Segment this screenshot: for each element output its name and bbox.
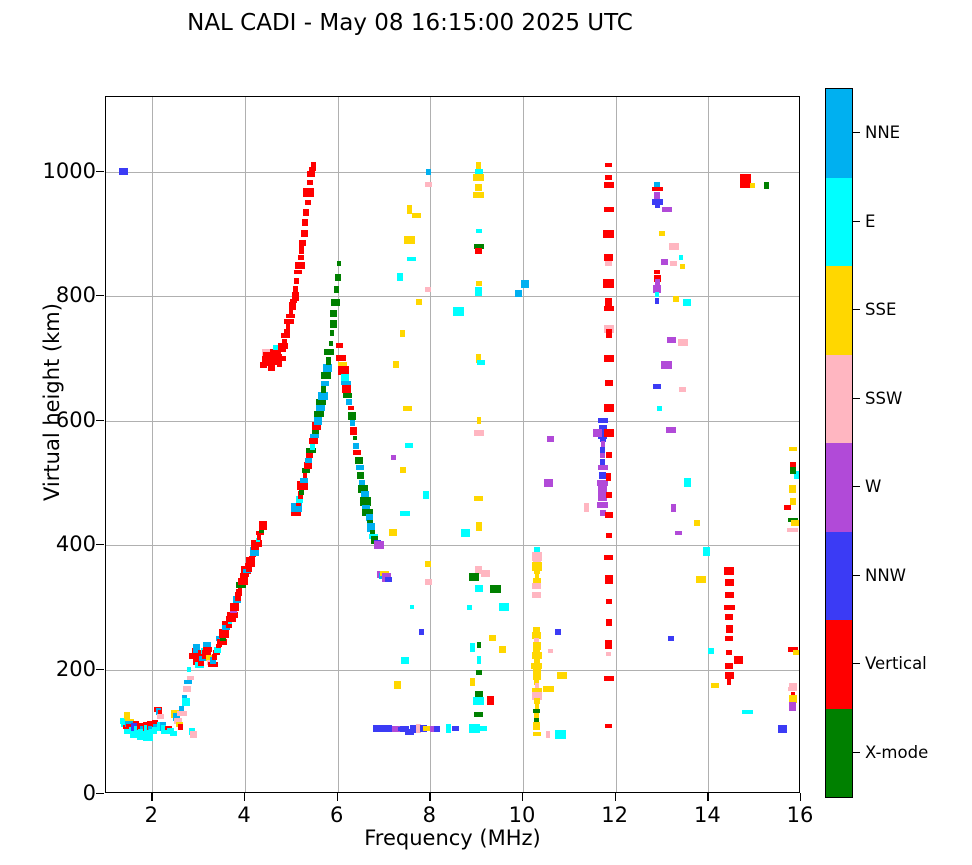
data-point [678, 339, 688, 346]
data-point [655, 298, 659, 304]
data-point [605, 163, 612, 167]
data-point [597, 502, 608, 508]
data-point [473, 174, 484, 181]
data-point [425, 579, 432, 585]
data-point [284, 329, 290, 333]
data-point [673, 296, 679, 302]
data-point [301, 230, 308, 237]
data-point [157, 714, 164, 719]
data-point [467, 605, 472, 610]
colorbar-band-sse [826, 266, 852, 355]
data-point [190, 731, 197, 738]
data-point [604, 182, 614, 188]
x-tick-mark [244, 793, 245, 801]
data-point [353, 450, 361, 455]
data-point [473, 697, 484, 705]
data-point [356, 465, 364, 470]
data-point [475, 248, 482, 254]
data-point [604, 254, 613, 261]
data-point [324, 349, 334, 355]
data-point [606, 452, 612, 458]
data-point [499, 646, 506, 653]
data-point [499, 603, 509, 611]
colorbar-tick-mark [853, 486, 860, 487]
data-point [603, 230, 614, 238]
data-point [286, 323, 290, 330]
data-point [476, 229, 482, 233]
data-point [281, 333, 290, 338]
data-point [487, 696, 494, 705]
data-point [177, 711, 187, 716]
y-tick-mark [96, 793, 104, 794]
colorbar-label-e: E [865, 212, 875, 231]
data-point [533, 709, 540, 713]
data-point [606, 473, 611, 481]
colorbar-tick-mark [853, 575, 860, 576]
data-point [336, 343, 343, 348]
data-point [680, 264, 685, 269]
colorbar-band-vertical [826, 620, 852, 709]
data-point [292, 292, 299, 301]
data-point [605, 724, 612, 728]
data-point [480, 726, 487, 731]
data-point [606, 652, 611, 656]
data-point [666, 427, 676, 433]
data-point [286, 314, 295, 318]
data-point [353, 436, 357, 440]
data-point [425, 287, 431, 292]
chart-title: NAL CADI - May 08 16:15:00 2025 UTC [0, 10, 820, 36]
data-point [521, 280, 529, 288]
data-point [170, 731, 177, 736]
data-point [606, 599, 612, 604]
data-point [604, 676, 614, 681]
plot-area [105, 96, 800, 793]
data-point [476, 522, 482, 531]
data-point [330, 320, 337, 328]
data-point [183, 686, 191, 692]
data-point [708, 648, 714, 654]
data-point [476, 670, 482, 675]
data-point [489, 635, 496, 641]
data-point [657, 406, 662, 411]
data-point [397, 273, 403, 281]
x-tick-label: 8 [399, 803, 459, 827]
data-point [284, 319, 294, 324]
ionogram-figure: NAL CADI - May 08 16:15:00 2025 UTC Virt… [0, 0, 972, 865]
data-point [304, 462, 312, 469]
data-point [475, 184, 482, 191]
data-point [303, 188, 314, 197]
data-point [604, 306, 614, 311]
data-point [600, 459, 605, 465]
data-point [307, 171, 315, 177]
colorbar-band-e [826, 178, 852, 267]
y-axis-ticks: 02004006008001000 [0, 96, 96, 793]
data-point [679, 387, 686, 392]
data-point [335, 274, 341, 281]
data-point [475, 287, 482, 296]
data-point [655, 203, 660, 208]
data-point [469, 573, 479, 581]
data-point [306, 453, 313, 458]
y-tick-label: 1000 [10, 159, 96, 183]
data-point [533, 722, 540, 730]
data-point [405, 443, 413, 448]
data-point [490, 585, 501, 593]
data-point [391, 455, 396, 460]
x-tick-mark [707, 793, 708, 801]
data-point [329, 341, 333, 346]
data-point [452, 726, 459, 731]
data-point [477, 656, 481, 664]
data-point [598, 465, 608, 470]
data-point [407, 257, 416, 261]
colorbar-tick-mark [853, 398, 860, 399]
x-tick-label: 12 [585, 803, 645, 827]
data-point [675, 531, 682, 535]
data-point [662, 207, 672, 212]
colorbar-label-nnw: NNW [865, 566, 906, 585]
data-point [605, 575, 613, 584]
y-tick-mark [96, 295, 104, 296]
data-point [305, 458, 312, 463]
data-point [303, 209, 309, 216]
data-point [321, 372, 331, 379]
data-point [652, 187, 663, 191]
y-tick-mark [96, 544, 104, 545]
x-tick-label: 2 [121, 803, 181, 827]
data-point [434, 726, 440, 732]
data-point [353, 443, 359, 449]
data-point [404, 236, 415, 244]
data-point [654, 270, 660, 274]
x-tick-label: 10 [492, 803, 552, 827]
data-point [277, 362, 282, 367]
data-point [314, 411, 324, 417]
data-point [725, 614, 733, 620]
data-point [400, 330, 405, 337]
colorbar-tick-mark [853, 132, 860, 133]
data-point [679, 255, 683, 260]
data-point [789, 447, 797, 451]
data-point [661, 259, 668, 265]
data-point [555, 629, 561, 635]
data-point [302, 219, 308, 226]
colorbar-band-nne [826, 89, 852, 178]
data-point [606, 329, 612, 338]
data-point [307, 180, 313, 185]
data-point [350, 427, 357, 435]
data-point [474, 496, 483, 501]
data-point [326, 357, 331, 365]
x-tick-mark [337, 793, 338, 801]
data-point [684, 478, 691, 487]
data-point [394, 681, 401, 689]
data-point [724, 605, 735, 610]
data-point [469, 724, 480, 733]
data-point [790, 498, 796, 505]
data-point [703, 547, 710, 556]
y-tick-mark [96, 669, 104, 670]
x-tick-mark [615, 793, 616, 801]
data-point [475, 585, 483, 592]
data-point [426, 169, 431, 175]
data-point [311, 162, 316, 168]
colorbar-band-nnw [826, 532, 852, 621]
x-tick-mark [151, 793, 152, 801]
data-point [791, 520, 800, 526]
data-point [790, 467, 796, 474]
data-points-layer [106, 97, 799, 792]
data-point [336, 355, 346, 361]
data-point [477, 360, 485, 365]
data-point [727, 678, 731, 685]
colorbar-labels: NNEESSESSWWNNWVerticalX-mode [853, 88, 963, 798]
data-point [778, 725, 787, 733]
data-point [294, 270, 302, 274]
data-point [789, 485, 796, 493]
data-point [532, 592, 541, 598]
data-point [711, 683, 719, 688]
data-point [331, 299, 340, 306]
data-point [726, 625, 733, 633]
data-point [476, 281, 482, 286]
data-point [593, 429, 602, 437]
data-point [419, 629, 424, 635]
x-axis-label: Frequency (MHz) [105, 826, 800, 850]
data-point [277, 356, 286, 361]
data-point [393, 361, 399, 368]
data-point [788, 687, 797, 691]
y-tick-label: 0 [10, 781, 96, 805]
data-point [374, 541, 384, 549]
data-point [793, 650, 800, 655]
data-point [598, 418, 608, 423]
data-point [289, 302, 296, 310]
data-point [305, 200, 311, 205]
data-point [605, 512, 613, 518]
data-point [477, 417, 481, 424]
data-point [555, 730, 566, 739]
data-point [668, 636, 674, 641]
data-point [734, 656, 743, 664]
y-tick-label: 200 [10, 657, 96, 681]
data-point [725, 592, 734, 598]
data-point [321, 386, 326, 393]
data-point [473, 192, 484, 198]
data-point [548, 649, 553, 653]
data-point [683, 299, 691, 306]
data-point [605, 640, 612, 649]
colorbar-label-vertical: Vertical [865, 654, 927, 673]
colorbar-tick-mark [853, 221, 860, 222]
data-point [294, 278, 299, 284]
data-point [282, 339, 287, 343]
data-point [178, 724, 183, 730]
data-point [334, 286, 339, 293]
data-point [355, 457, 363, 464]
data-point [784, 505, 791, 510]
y-tick-mark [96, 171, 104, 172]
data-point [605, 380, 613, 386]
data-point [605, 261, 612, 266]
data-point [309, 438, 318, 444]
colorbar-tick-mark [853, 752, 860, 753]
data-point [403, 406, 412, 411]
data-point [310, 434, 319, 438]
colorbar-label-w: W [865, 477, 881, 496]
data-point [599, 472, 606, 479]
colorbar-tick-mark [853, 309, 860, 310]
data-point [343, 393, 352, 398]
x-tick-mark [429, 793, 430, 801]
x-tick-label: 14 [677, 803, 737, 827]
data-point [425, 182, 432, 187]
y-tick-mark [96, 420, 104, 421]
data-point [669, 243, 679, 250]
data-point [789, 702, 796, 711]
data-point [696, 576, 706, 583]
data-point [423, 491, 429, 499]
data-point [481, 570, 490, 577]
x-tick-mark [800, 793, 801, 801]
data-point [661, 361, 672, 369]
y-tick-label: 600 [10, 408, 96, 432]
data-point [584, 503, 589, 512]
data-point [600, 453, 605, 458]
data-point [293, 286, 298, 292]
data-point [655, 292, 659, 297]
data-point [400, 467, 406, 473]
data-point [385, 577, 392, 582]
data-point [726, 650, 732, 655]
data-point [544, 479, 553, 487]
colorbar-label-x-mode: X-mode [865, 743, 928, 762]
data-point [604, 429, 614, 437]
data-point [725, 579, 734, 586]
x-tick-mark [522, 793, 523, 801]
data-point [226, 623, 232, 628]
colorbar-band-w [826, 443, 852, 532]
data-point [515, 290, 522, 297]
colorbar-band-ssw [826, 355, 852, 444]
data-point [605, 175, 612, 180]
colorbar-tick-mark [853, 663, 860, 664]
data-point [604, 555, 613, 560]
data-point [470, 678, 475, 686]
data-point [348, 406, 354, 410]
data-point [724, 567, 734, 575]
data-point [416, 299, 422, 305]
data-point [604, 355, 614, 362]
data-point [346, 399, 352, 405]
data-point [323, 364, 332, 372]
colorbar-label-ssw: SSW [865, 389, 902, 408]
data-point [606, 492, 612, 498]
data-point [303, 472, 307, 478]
data-point [742, 710, 753, 714]
data-point [446, 724, 451, 733]
data-point [603, 279, 614, 288]
data-point [474, 712, 483, 717]
data-point [477, 642, 481, 648]
data-point [725, 663, 733, 669]
data-point [184, 680, 192, 684]
data-point [470, 643, 475, 652]
data-point [316, 405, 325, 411]
data-point [389, 529, 397, 536]
data-point [764, 182, 769, 189]
data-point [300, 478, 308, 483]
data-point [401, 657, 409, 664]
data-point [295, 262, 305, 269]
data-point [653, 384, 661, 389]
data-point [532, 583, 541, 589]
colorbar-label-nne: NNE [865, 123, 900, 142]
x-tick-label: 6 [307, 803, 367, 827]
data-point [259, 521, 267, 530]
data-point [187, 667, 191, 672]
data-point [341, 374, 349, 381]
data-point [546, 731, 550, 738]
data-point [543, 686, 554, 692]
data-point [298, 255, 304, 260]
data-point [670, 261, 677, 266]
colorbar-label-sse: SSE [865, 300, 896, 319]
x-tick-label: 16 [770, 803, 830, 827]
data-point [667, 337, 676, 343]
data-point [299, 246, 304, 254]
data-point [187, 676, 194, 680]
data-point [400, 511, 410, 516]
data-point [659, 231, 665, 236]
data-point [412, 213, 421, 218]
y-tick-label: 400 [10, 532, 96, 556]
colorbar [825, 88, 853, 798]
data-point [119, 168, 128, 175]
data-point [725, 636, 733, 641]
data-point [557, 672, 567, 679]
data-point [671, 504, 676, 512]
data-point [654, 182, 660, 187]
data-point [314, 417, 322, 425]
data-point [750, 183, 755, 188]
data-point [461, 529, 470, 537]
data-point [278, 343, 288, 349]
x-tick-label: 4 [214, 803, 274, 827]
data-point [604, 404, 614, 412]
data-point [533, 732, 541, 736]
data-point [410, 605, 414, 609]
data-point [330, 330, 334, 336]
data-point [597, 480, 608, 486]
data-point [182, 698, 190, 706]
data-point [348, 412, 356, 420]
data-point [299, 240, 306, 246]
data-point [604, 207, 614, 212]
data-point [787, 528, 798, 532]
data-point [425, 561, 431, 567]
data-point [694, 520, 700, 526]
data-point [547, 436, 554, 442]
data-point [606, 533, 612, 538]
data-point [337, 261, 341, 266]
data-point [474, 430, 484, 436]
data-point [321, 381, 329, 386]
data-point [453, 307, 464, 316]
data-point [330, 310, 337, 317]
